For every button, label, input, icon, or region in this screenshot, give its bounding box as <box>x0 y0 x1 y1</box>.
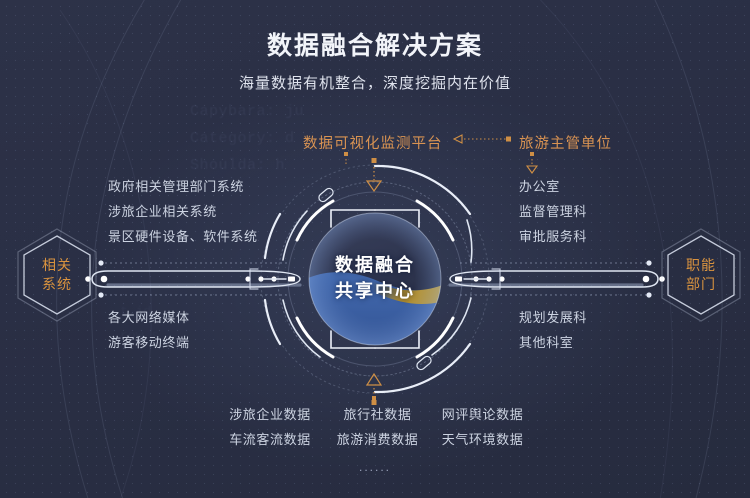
hex-label-line2: 系统 <box>42 275 72 294</box>
bottom-grid-marker <box>372 396 376 400</box>
list-item: 规划发展科 <box>519 305 587 330</box>
hex-label-line1: 职能 <box>686 256 716 275</box>
center-label-line1: 数据融合 <box>300 252 450 278</box>
hex-label-line2: 部门 <box>686 275 716 294</box>
grid-cell: 旅游消费数据 <box>325 429 430 448</box>
list-item: 其他科室 <box>519 330 587 355</box>
right-hexagon-label: 职能 部门 <box>662 229 740 321</box>
left-hexagon-node: 相关 系统 <box>18 229 96 321</box>
list-item: 景区硬件设备、软件系统 <box>108 224 258 249</box>
left-lower-source-list: 各大网络媒体 游客移动终端 <box>108 305 190 355</box>
page-subtitle: 海量数据有机整合，深度挖掘内在价值 <box>0 72 750 93</box>
left-upper-source-list: 政府相关管理部门系统 涉旅企业相关系统 景区硬件设备、软件系统 <box>108 174 258 249</box>
infographic-canvas: Capybara: ju Category: d Shoulda: h t.id… <box>0 0 750 498</box>
label-visualization-platform: 数据可视化监测平台 <box>303 132 443 153</box>
list-item: 审批服务科 <box>519 224 587 249</box>
hex-label-line1: 相关 <box>42 256 72 275</box>
bottom-data-category-grid: 涉旅企业数据 旅行社数据 网评舆论数据 车流客流数据 旅游消费数据 天气环境数据 <box>215 404 535 448</box>
page-title: 数据融合解决方案 <box>0 26 750 62</box>
list-item: 监督管理科 <box>519 199 587 224</box>
left-hexagon-label: 相关 系统 <box>18 229 96 321</box>
grid-cell: 涉旅企业数据 <box>215 404 325 423</box>
list-item: 游客移动终端 <box>108 330 190 355</box>
top-label-drop-markers <box>344 152 537 173</box>
right-hexagon-node: 职能 部门 <box>662 229 740 321</box>
bottom-grid-ellipsis: ...... <box>0 460 750 474</box>
list-item: 办公室 <box>519 174 587 199</box>
grid-cell: 天气环境数据 <box>430 429 535 448</box>
list-item: 各大网络媒体 <box>108 305 190 330</box>
grid-cell: 旅行社数据 <box>325 404 430 423</box>
center-ring-system <box>250 165 500 393</box>
top-label-arrow <box>454 135 511 143</box>
label-tourism-authority: 旅游主管单位 <box>519 132 612 153</box>
center-sphere-label: 数据融合 共享中心 <box>300 252 450 304</box>
grid-cell: 网评舆论数据 <box>430 404 535 423</box>
center-label-line2: 共享中心 <box>300 278 450 304</box>
center-sphere <box>300 213 452 360</box>
left-connector <box>85 260 300 297</box>
list-item: 政府相关管理部门系统 <box>108 174 258 199</box>
list-item: 涉旅企业相关系统 <box>108 199 258 224</box>
grid-cell: 车流客流数据 <box>215 429 325 448</box>
top-inflow-arrow <box>367 158 381 191</box>
bottom-inflow-arrow <box>367 374 381 405</box>
right-lower-department-list: 规划发展科 其他科室 <box>519 305 587 355</box>
right-upper-department-list: 办公室 监督管理科 审批服务科 <box>519 174 587 249</box>
right-connector <box>450 260 665 297</box>
